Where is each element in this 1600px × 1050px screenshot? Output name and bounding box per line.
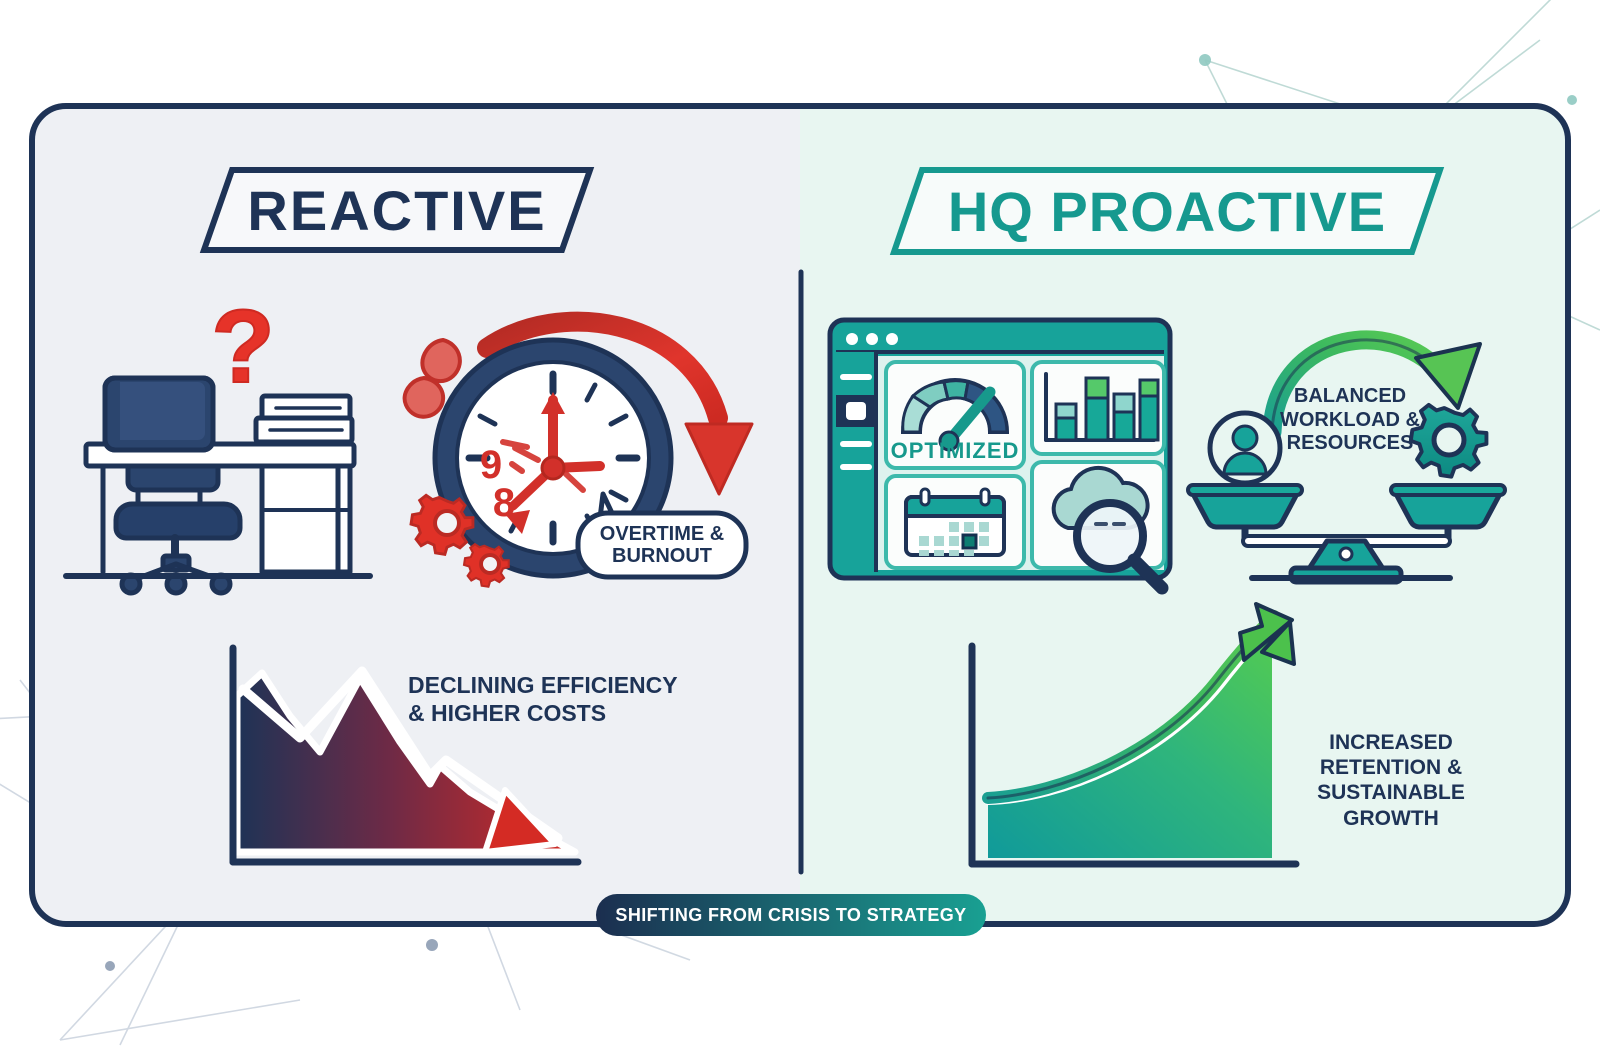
balance-caption-line-3: RESOURCES [1272, 432, 1428, 456]
hq-proactive-label-text: HQ PROACTIVE [948, 179, 1386, 244]
reactive-banner-label: REACTIVE [204, 170, 590, 250]
growth-caption-line-2: RETENTION & [1296, 755, 1486, 780]
hq-proactive-banner-label: HQ PROACTIVE [894, 170, 1440, 252]
bubble-line-2: BURNOUT [612, 545, 712, 567]
decline-caption-line-1: DECLINING EFFICIENCY [408, 672, 708, 700]
main-panel: ? [0, 0, 1600, 1050]
person-avatar-icon [1210, 413, 1280, 483]
growth-caption-line-4: GROWTH [1296, 806, 1486, 831]
declining-efficiency-caption: DECLINING EFFICIENCY & HIGHER COSTS [408, 672, 708, 727]
infographic-canvas: ? [0, 0, 1600, 1050]
footer-pill-label[interactable]: SHIFTING FROM CRISIS TO STRATEGY [596, 894, 986, 936]
calendar-icon [906, 489, 1004, 556]
balanced-workload-caption: BALANCED WORKLOAD & RESOURCES [1272, 385, 1428, 456]
decline-caption-line-2: & HIGHER COSTS [408, 700, 708, 728]
growth-caption-line-3: SUSTAINABLE [1296, 780, 1486, 805]
increased-retention-caption: INCREASED RETENTION & SUSTAINABLE GROWTH [1296, 730, 1486, 831]
balance-caption-line-1: BALANCED [1272, 385, 1428, 409]
svg-text:?: ? [211, 289, 275, 405]
reactive-label-text: REACTIVE [247, 178, 546, 243]
growth-caption-line-1: INCREASED [1296, 730, 1486, 755]
gauge-optimized-label: OPTIMIZED [886, 438, 1024, 464]
footer-pill-text: SHIFTING FROM CRISIS TO STRATEGY [615, 905, 966, 926]
question-mark-icon: ? [211, 289, 275, 405]
overtime-burnout-label: OVERTIME & BURNOUT [578, 513, 746, 577]
window-dots-icon [846, 333, 898, 345]
bubble-line-1: OVERTIME & [600, 523, 724, 545]
balance-caption-line-2: WORKLOAD & [1272, 409, 1428, 433]
optimized-text: OPTIMIZED [891, 438, 1020, 463]
